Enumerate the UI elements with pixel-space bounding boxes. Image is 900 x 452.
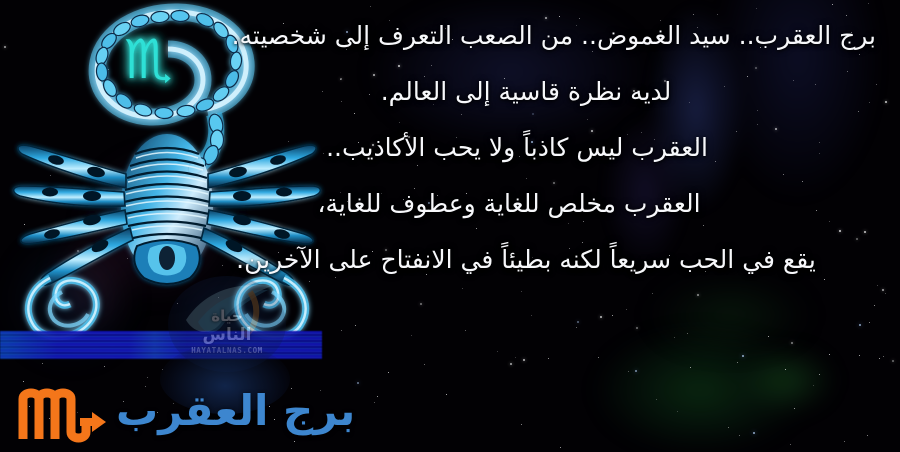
brand-label: برج العقرب: [116, 390, 355, 438]
svg-text:♏: ♏: [124, 28, 172, 91]
nebula-green-bottom-right: [540, 300, 900, 452]
horoscope-line-4: العقرب مخلص للغاية وعطوف للغاية،: [176, 176, 876, 232]
blue-reflection-band: [0, 331, 322, 359]
brand-lockup: برج العقرب: [14, 382, 355, 446]
scorpio-zodiac-glyph-icon: [14, 382, 110, 446]
horoscope-line-5: يقع في الحب سريعاً لكنه بطيئاً في الانفت…: [176, 232, 876, 288]
horoscope-image: ♏: [0, 0, 900, 452]
horoscope-text-block: برج العقرب.. سيد الغموض.. من الصعب التعر…: [176, 8, 876, 288]
horoscope-line-1: برج العقرب.. سيد الغموض.. من الصعب التعر…: [176, 8, 876, 64]
horoscope-line-3: العقرب ليس كاذباً ولا يحب الأكاذيب..: [176, 120, 876, 176]
horoscope-line-2: لديه نظرة قاسية إلى العالم.: [176, 64, 876, 120]
